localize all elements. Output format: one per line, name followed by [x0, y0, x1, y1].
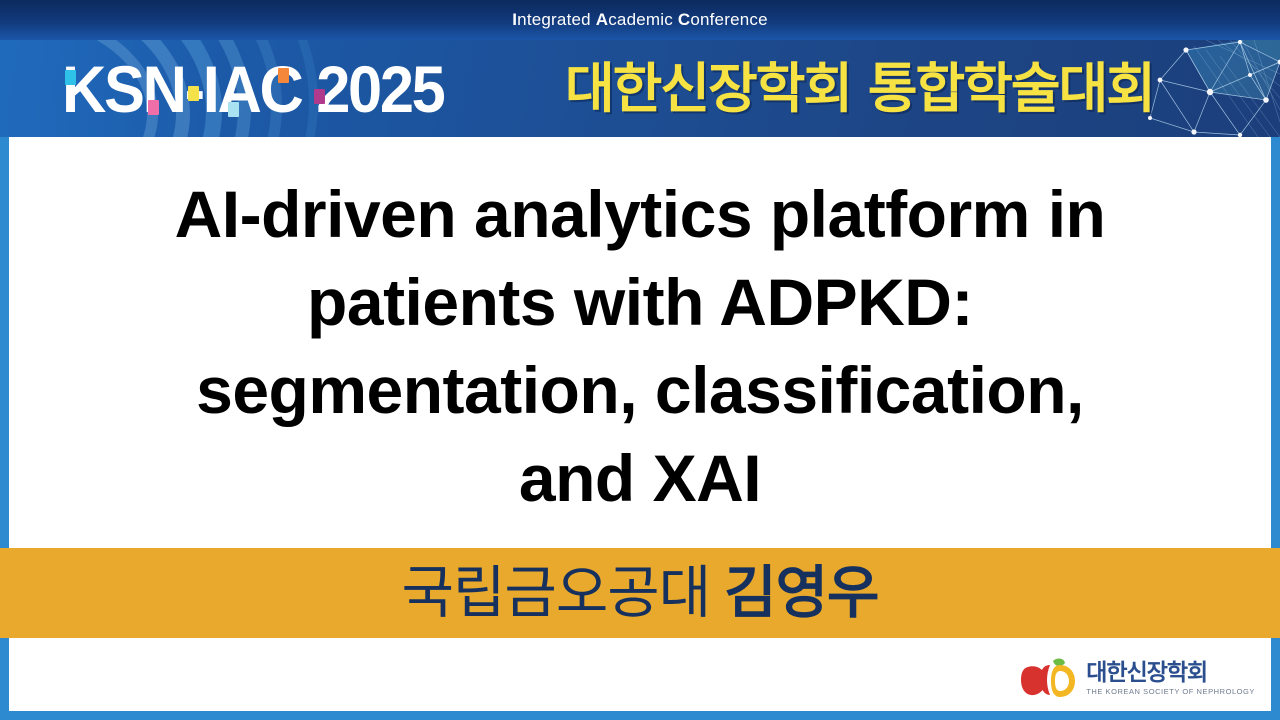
title-line: patients with ADPKD:	[307, 258, 973, 346]
wordmark-accent-icon	[65, 70, 76, 85]
conference-subtitle: Integrated Academic Conference	[512, 10, 768, 30]
conference-subtitle-part: A	[596, 10, 608, 29]
conference-subtitle-part: cademic	[608, 10, 678, 29]
conference-subtitle-part: ntegrated	[517, 10, 596, 29]
presentation-title: AI-driven analytics platform in patients…	[9, 170, 1271, 545]
wordmark-accent-icon	[188, 86, 199, 101]
wordmark-accent-icon	[148, 100, 159, 115]
kidney-logo-icon	[1020, 658, 1078, 700]
ksn-iac-wordmark-text: KSN-IAC 2025	[62, 56, 443, 122]
presenter-affiliation: 국립금오공대	[402, 560, 711, 626]
wordmark-accent-icon	[278, 68, 289, 83]
wordmark-accent-icon	[228, 102, 239, 117]
presenter-text: 국립금오공대김영우	[402, 565, 879, 622]
society-name-korean: 대한신장학회	[1086, 661, 1255, 685]
society-logo-text: 대한신장학회 THE KOREAN SOCIETY OF NEPHROLOGY	[1086, 661, 1255, 697]
title-line: and XAI	[519, 434, 761, 522]
presenter-name: 김영우	[724, 560, 878, 626]
ksn-iac-wordmark: KSN-IAC 2025	[62, 56, 472, 122]
presenter-bar: 국립금오공대김영우	[0, 548, 1280, 638]
wordmark-accent-icon	[314, 89, 325, 104]
society-name-english: THE KOREAN SOCIETY OF NEPHROLOGY	[1086, 687, 1255, 697]
conference-subtitle-part: onference	[690, 10, 767, 29]
top-banner-strip: Integrated Academic Conference	[0, 0, 1280, 40]
conference-banner: KSN-IAC 2025 대한신장학회 통합학술대회	[0, 40, 1280, 137]
society-logo: 대한신장학회 THE KOREAN SOCIETY OF NEPHROLOGY	[1020, 655, 1255, 703]
banner-korean-title: 대한신장학회 통합학술대회	[565, 62, 1154, 116]
title-line: AI-driven analytics platform in	[175, 170, 1106, 258]
conference-title-slide: Integrated Academic Conference	[0, 0, 1280, 720]
title-line: segmentation, classification,	[196, 346, 1084, 434]
conference-subtitle-part: C	[678, 10, 690, 29]
